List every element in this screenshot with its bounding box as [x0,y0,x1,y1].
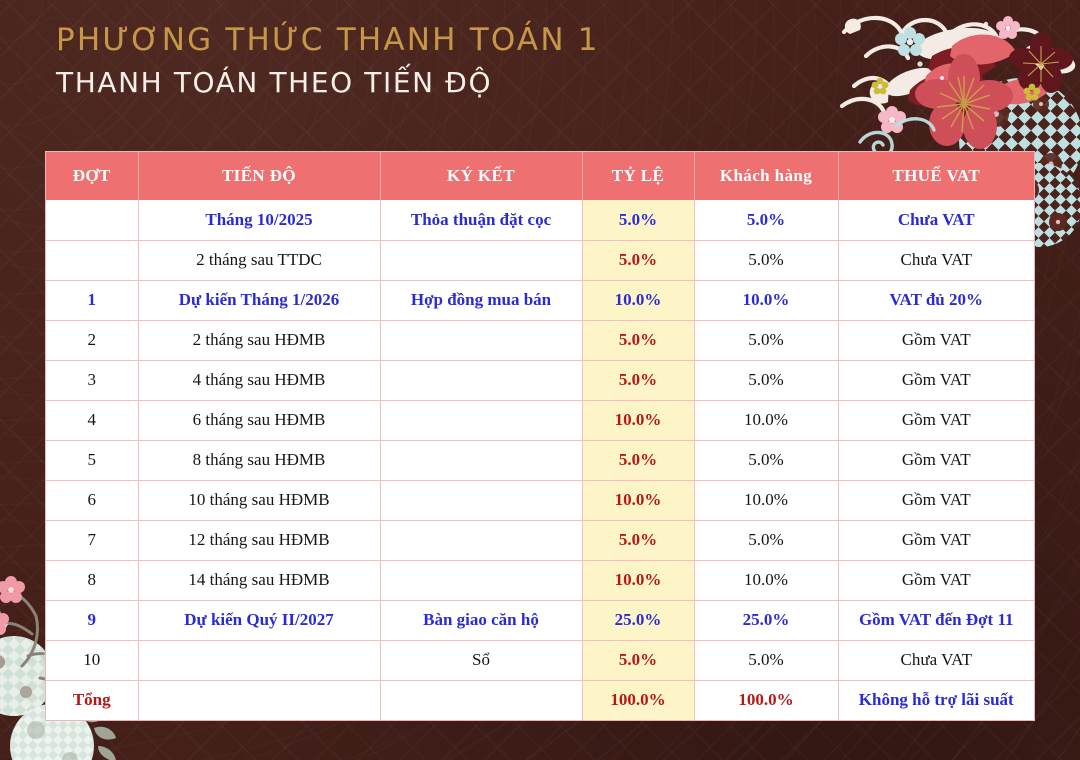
cell-dot [46,200,138,240]
table-row: 712 tháng sau HĐMB5.0%5.0%Gồm VAT [46,520,1034,560]
cell-ty-le: 100.0% [582,680,694,720]
cell-thue-vat: VAT đủ 20% [838,280,1034,320]
cell-thue-vat: Gồm VAT [838,520,1034,560]
cell-ty-le: 5.0% [582,440,694,480]
cell-ky-ket: Bàn giao căn hộ [380,600,582,640]
cell-ty-le: 5.0% [582,320,694,360]
cell-ky-ket: Hợp đồng mua bán [380,280,582,320]
cell-thue-vat: Gồm VAT [838,400,1034,440]
cell-khach-hang: 10.0% [694,480,838,520]
table-row: Tổng100.0%100.0%Không hỗ trợ lãi suất [46,680,1034,720]
cell-dot: 1 [46,280,138,320]
table-body: Tháng 10/2025Thỏa thuận đặt cọc5.0%5.0%C… [46,200,1034,720]
column-header-thue-vat: THUẾ VAT [838,152,1034,200]
cell-khach-hang: 5.0% [694,640,838,680]
cell-ty-le: 5.0% [582,360,694,400]
cell-ty-le: 5.0% [582,200,694,240]
cell-dot: 9 [46,600,138,640]
table-row: 814 tháng sau HĐMB10.0%10.0%Gồm VAT [46,560,1034,600]
page-header: PHƯƠNG THỨC THANH TOÁN 1 THANH TOÁN THEO… [56,22,600,99]
cell-khach-hang: 100.0% [694,680,838,720]
cell-ty-le: 25.0% [582,600,694,640]
payment-schedule-table-container: ĐỢT TIẾN ĐỘ KÝ KẾT TỶ LỆ Khách hàng THUẾ… [46,152,1034,720]
cell-tien-do: Dự kiến Tháng 1/2026 [138,280,380,320]
cell-ty-le: 5.0% [582,240,694,280]
column-header-ky-ket: KÝ KẾT [380,152,582,200]
table-row: 46 tháng sau HĐMB10.0%10.0%Gồm VAT [46,400,1034,440]
cell-thue-vat: Gồm VAT [838,560,1034,600]
cell-dot: 6 [46,480,138,520]
cell-ky-ket [380,440,582,480]
table-row: Tháng 10/2025Thỏa thuận đặt cọc5.0%5.0%C… [46,200,1034,240]
page-subtitle: THANH TOÁN THEO TIẾN ĐỘ [56,66,600,99]
table-row: 22 tháng sau HĐMB5.0%5.0%Gồm VAT [46,320,1034,360]
table-row: 1Dự kiến Tháng 1/2026Hợp đồng mua bán10.… [46,280,1034,320]
cell-ky-ket [380,240,582,280]
cell-dot: Tổng [46,680,138,720]
page-title: PHƯƠNG THỨC THANH TOÁN 1 [56,22,600,58]
column-header-tien-do: TIẾN ĐỘ [138,152,380,200]
cell-thue-vat: Chưa VAT [838,640,1034,680]
cell-thue-vat: Chưa VAT [838,200,1034,240]
column-header-dot: ĐỢT [46,152,138,200]
table-row: 10Sổ5.0%5.0%Chưa VAT [46,640,1034,680]
cell-tien-do: 2 tháng sau HĐMB [138,320,380,360]
cell-ty-le: 10.0% [582,280,694,320]
cell-thue-vat: Gồm VAT [838,320,1034,360]
cell-khach-hang: 5.0% [694,360,838,400]
cell-ty-le: 10.0% [582,480,694,520]
cell-ky-ket: Sổ [380,640,582,680]
cell-dot: 2 [46,320,138,360]
cell-dot [46,240,138,280]
cell-khach-hang: 5.0% [694,520,838,560]
cell-tien-do [138,640,380,680]
cell-khach-hang: 5.0% [694,440,838,480]
cell-dot: 3 [46,360,138,400]
cell-tien-do: 4 tháng sau HĐMB [138,360,380,400]
cell-tien-do: Tháng 10/2025 [138,200,380,240]
table-row: 58 tháng sau HĐMB5.0%5.0%Gồm VAT [46,440,1034,480]
cell-ky-ket [380,320,582,360]
table-header-row: ĐỢT TIẾN ĐỘ KÝ KẾT TỶ LỆ Khách hàng THUẾ… [46,152,1034,200]
cell-ky-ket [380,680,582,720]
cell-thue-vat: Gồm VAT [838,360,1034,400]
cell-tien-do: 8 tháng sau HĐMB [138,440,380,480]
table-row: 34 tháng sau HĐMB5.0%5.0%Gồm VAT [46,360,1034,400]
cell-khach-hang: 5.0% [694,320,838,360]
cell-ky-ket [380,560,582,600]
cell-khach-hang: 5.0% [694,240,838,280]
table-row: 610 tháng sau HĐMB10.0%10.0%Gồm VAT [46,480,1034,520]
cell-dot: 10 [46,640,138,680]
cell-thue-vat: Chưa VAT [838,240,1034,280]
cell-tien-do: 2 tháng sau TTDC [138,240,380,280]
cell-tien-do: 12 tháng sau HĐMB [138,520,380,560]
cell-tien-do: Dự kiến Quý II/2027 [138,600,380,640]
cell-dot: 7 [46,520,138,560]
cell-ty-le: 5.0% [582,520,694,560]
cell-ty-le: 10.0% [582,400,694,440]
payment-schedule-table: ĐỢT TIẾN ĐỘ KÝ KẾT TỶ LỆ Khách hàng THUẾ… [46,152,1034,720]
cell-tien-do: 14 tháng sau HĐMB [138,560,380,600]
cell-ky-ket [380,400,582,440]
cell-tien-do: 6 tháng sau HĐMB [138,400,380,440]
cell-dot: 8 [46,560,138,600]
cell-khach-hang: 10.0% [694,400,838,440]
cell-ky-ket: Thỏa thuận đặt cọc [380,200,582,240]
table-row: 2 tháng sau TTDC5.0%5.0%Chưa VAT [46,240,1034,280]
cell-tien-do [138,680,380,720]
cell-ty-le: 10.0% [582,560,694,600]
cell-khach-hang: 5.0% [694,200,838,240]
table-header: ĐỢT TIẾN ĐỘ KÝ KẾT TỶ LỆ Khách hàng THUẾ… [46,152,1034,200]
cell-tien-do: 10 tháng sau HĐMB [138,480,380,520]
cell-thue-vat: Không hỗ trợ lãi suất [838,680,1034,720]
cell-dot: 4 [46,400,138,440]
column-header-ty-le: TỶ LỆ [582,152,694,200]
cell-thue-vat: Gồm VAT [838,480,1034,520]
cell-dot: 5 [46,440,138,480]
cell-ty-le: 5.0% [582,640,694,680]
cell-khach-hang: 10.0% [694,560,838,600]
cell-khach-hang: 10.0% [694,280,838,320]
cell-ky-ket [380,520,582,560]
cell-thue-vat: Gồm VAT đến Đợt 11 [838,600,1034,640]
cell-ky-ket [380,480,582,520]
table-row: 9Dự kiến Quý II/2027Bàn giao căn hộ25.0%… [46,600,1034,640]
cell-thue-vat: Gồm VAT [838,440,1034,480]
cell-khach-hang: 25.0% [694,600,838,640]
column-header-khach-hang: Khách hàng [694,152,838,200]
cell-ky-ket [380,360,582,400]
